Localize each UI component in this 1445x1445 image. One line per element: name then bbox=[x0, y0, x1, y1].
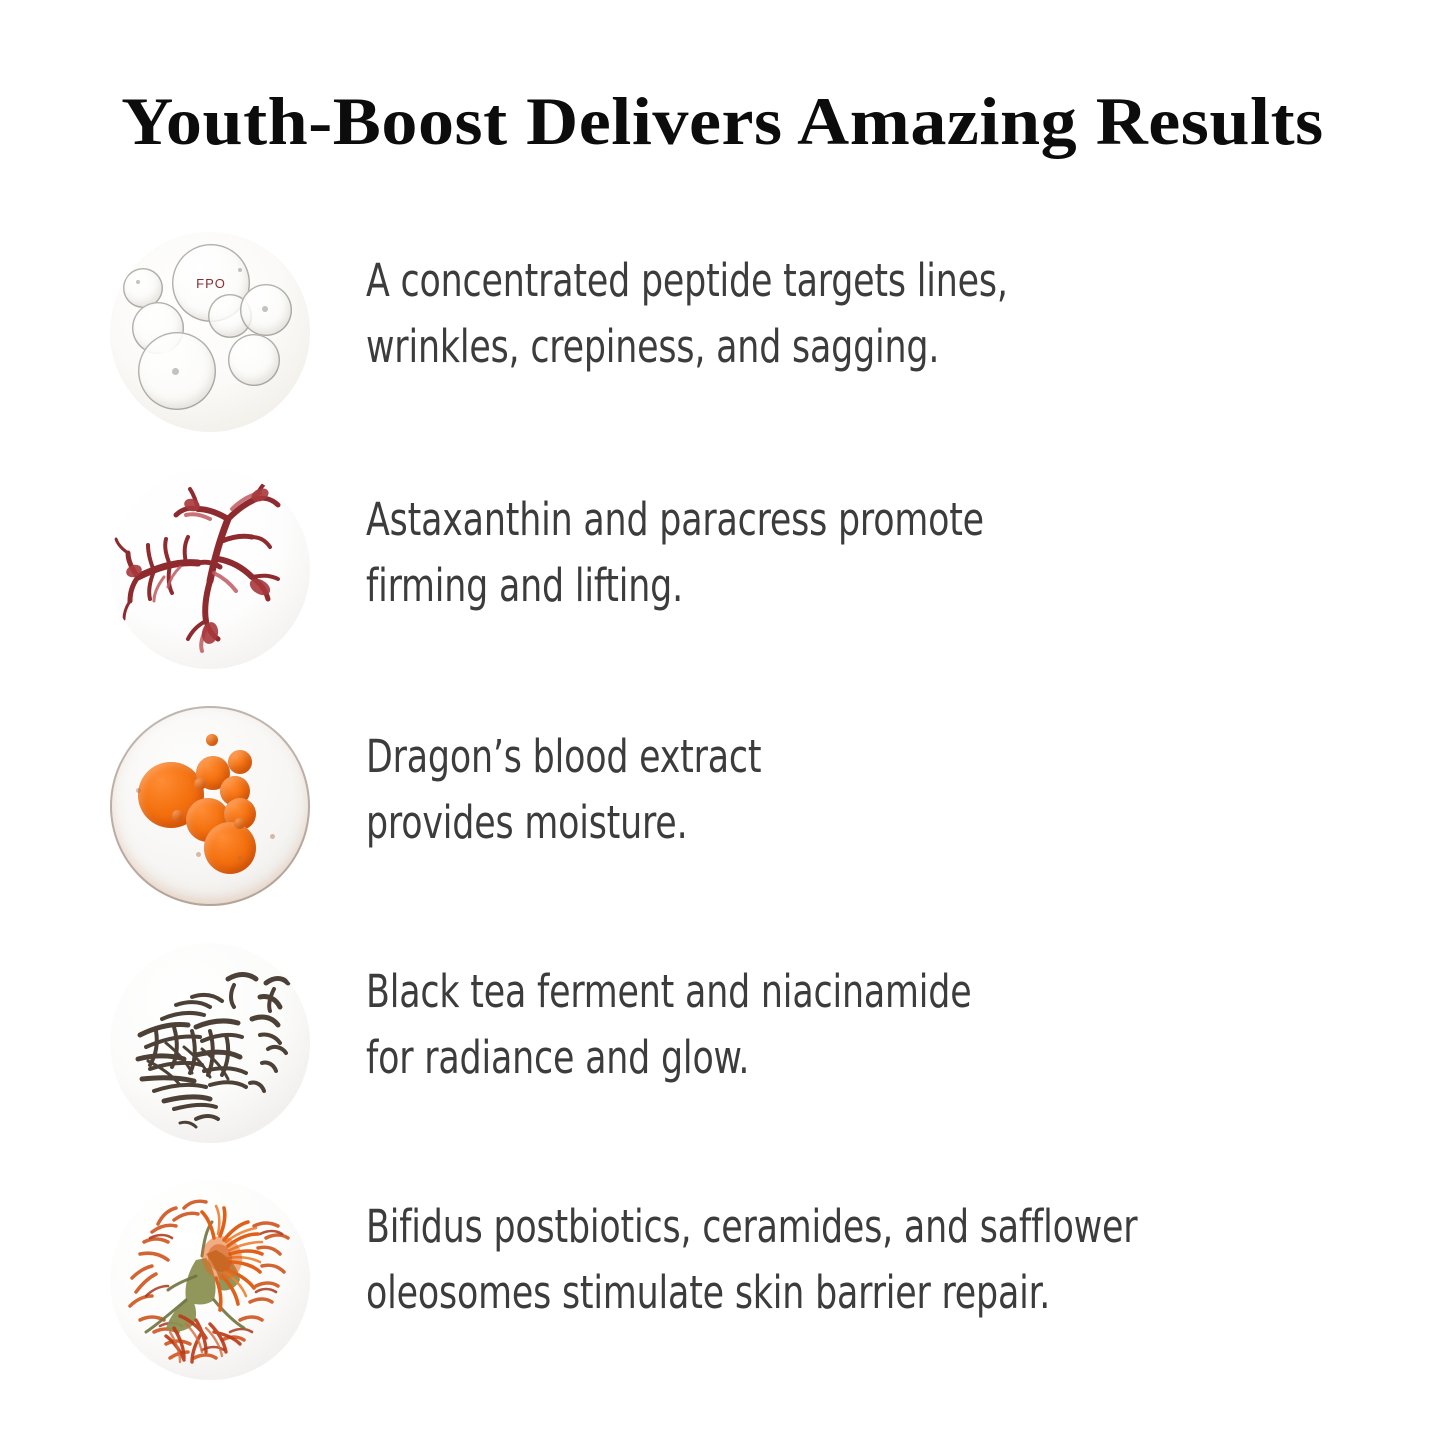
bubble-speck-icon bbox=[172, 368, 179, 375]
orange-droplet-icon bbox=[194, 778, 206, 790]
safflower-petals-swatch-icon bbox=[110, 1180, 310, 1380]
page-title: Youth-Boost Delivers Amazing Results bbox=[0, 80, 1445, 162]
product-benefits-infographic: Youth-Boost Delivers Amazing Results F bbox=[0, 0, 1445, 1445]
feature-text-line: oleosomes stimulate skin barrier repair. bbox=[366, 1260, 1269, 1326]
feature-text-line: Dragon’s blood extract bbox=[366, 724, 1269, 790]
feature-text-line: Astaxanthin and paracress promote bbox=[366, 487, 1269, 553]
droplet-speck-icon bbox=[196, 852, 201, 857]
feature-text-line: Bifidus postbiotics, ceramides, and saff… bbox=[366, 1194, 1269, 1260]
orange-droplet-icon bbox=[204, 822, 256, 874]
black-tea-leaves-swatch-icon bbox=[110, 943, 310, 1143]
droplet-speck-icon bbox=[136, 788, 141, 793]
orange-droplets-dish-swatch-icon bbox=[110, 706, 310, 906]
feature-image-black-tea bbox=[110, 943, 310, 1143]
bubble-speck-icon bbox=[262, 306, 268, 312]
feature-row: Astaxanthin and paracress promote firmin… bbox=[0, 465, 1445, 702]
feature-row: Dragon’s blood extract provides moisture… bbox=[0, 702, 1445, 939]
feature-text-line: A concentrated peptide targets lines, bbox=[366, 248, 1269, 314]
feature-row: Black tea ferment and niacinamide for ra… bbox=[0, 939, 1445, 1176]
feature-text: Dragon’s blood extract provides moisture… bbox=[366, 724, 1269, 856]
feature-text-line: Black tea ferment and niacinamide bbox=[366, 959, 1269, 1025]
gel-bubble-icon bbox=[228, 334, 280, 386]
safflower-illustration-icon bbox=[110, 1180, 310, 1380]
droplet-speck-icon bbox=[270, 834, 275, 839]
droplet-speck-icon bbox=[238, 856, 242, 860]
red-algae-illustration-icon bbox=[110, 469, 310, 669]
feature-text: Astaxanthin and paracress promote firmin… bbox=[366, 487, 1269, 619]
feature-text-line: provides moisture. bbox=[366, 790, 1269, 856]
orange-droplet-icon bbox=[206, 734, 218, 746]
orange-droplet-icon bbox=[172, 810, 183, 821]
feature-text-line: for radiance and glow. bbox=[366, 1025, 1269, 1091]
orange-droplet-icon bbox=[234, 818, 245, 829]
feature-image-orange-droplets bbox=[110, 706, 310, 906]
orange-droplet-icon bbox=[228, 750, 252, 774]
fpo-placeholder-label: FPO bbox=[172, 244, 250, 322]
feature-image-peptide-gel: FPO bbox=[110, 232, 310, 432]
black-tea-leaves-illustration-icon bbox=[110, 943, 310, 1143]
red-algae-seaweed-swatch-icon bbox=[110, 469, 310, 669]
feature-text: Black tea ferment and niacinamide for ra… bbox=[366, 959, 1269, 1091]
feature-text-line: firming and lifting. bbox=[366, 553, 1269, 619]
bubble-speck-icon bbox=[136, 280, 140, 284]
feature-text: Bifidus postbiotics, ceramides, and saff… bbox=[366, 1194, 1269, 1326]
feature-row: Bifidus postbiotics, ceramides, and saff… bbox=[0, 1176, 1445, 1413]
feature-text-line: wrinkles, crepiness, and sagging. bbox=[366, 314, 1269, 380]
feature-image-red-algae bbox=[110, 469, 310, 669]
feature-image-safflower bbox=[110, 1180, 310, 1380]
feature-text: A concentrated peptide targets lines, wr… bbox=[366, 248, 1269, 380]
feature-list: FPO A concentrated peptide targets lines… bbox=[0, 228, 1445, 1413]
clear-peptide-gel-bubbles-swatch-icon: FPO bbox=[110, 232, 310, 432]
feature-row: FPO A concentrated peptide targets lines… bbox=[0, 228, 1445, 465]
